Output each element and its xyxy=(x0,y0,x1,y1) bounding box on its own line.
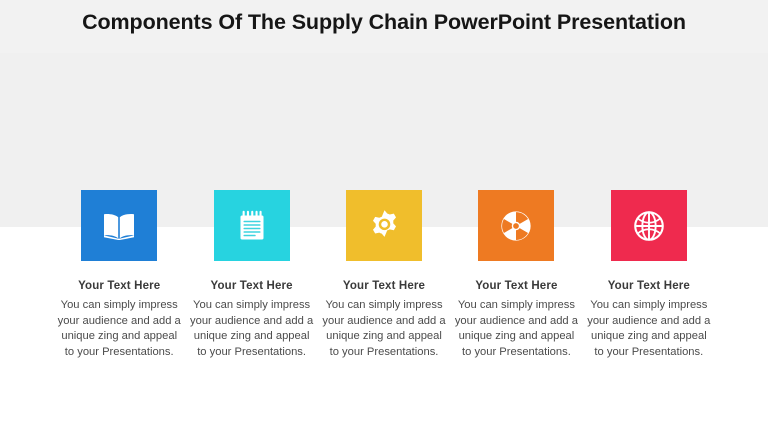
feature-body-4: You can simply impress your audience and… xyxy=(453,298,579,362)
icon-tile-4[interactable] xyxy=(478,190,554,261)
gear-icon xyxy=(368,209,401,242)
feature-body-3: You can simply impress your audience and… xyxy=(321,298,447,362)
feature-heading-4: Your Text Here xyxy=(475,280,557,293)
icon-tile-1[interactable] xyxy=(81,190,157,261)
feature-heading-1: Your Text Here xyxy=(78,280,160,293)
feature-column-2[interactable]: Your Text Here You can simply impress yo… xyxy=(185,190,317,361)
page-title: Components Of The Supply Chain PowerPoin… xyxy=(0,10,768,35)
feature-body-1: You can simply impress your audience and… xyxy=(56,298,182,362)
feature-column-1[interactable]: Your Text Here You can simply impress yo… xyxy=(53,190,185,361)
icon-tile-3[interactable] xyxy=(346,190,422,261)
feature-columns: Your Text Here You can simply impress yo… xyxy=(53,190,715,361)
feature-heading-3: Your Text Here xyxy=(343,280,425,293)
notepad-icon xyxy=(237,210,267,242)
icon-tile-5[interactable] xyxy=(611,190,687,261)
radiation-icon xyxy=(500,210,532,242)
slide-canvas: Components Of The Supply Chain PowerPoin… xyxy=(0,0,768,432)
feature-column-5[interactable]: Your Text Here You can simply impress yo… xyxy=(583,190,715,361)
feature-body-5: You can simply impress your audience and… xyxy=(586,298,712,362)
open-book-icon xyxy=(102,211,136,241)
feature-body-2: You can simply impress your audience and… xyxy=(189,298,315,362)
globe-icon xyxy=(633,210,665,242)
feature-heading-2: Your Text Here xyxy=(211,280,293,293)
feature-column-3[interactable]: Your Text Here You can simply impress yo… xyxy=(318,190,450,361)
feature-column-4[interactable]: Your Text Here You can simply impress yo… xyxy=(450,190,582,361)
icon-tile-2[interactable] xyxy=(214,190,290,261)
feature-heading-5: Your Text Here xyxy=(608,280,690,293)
